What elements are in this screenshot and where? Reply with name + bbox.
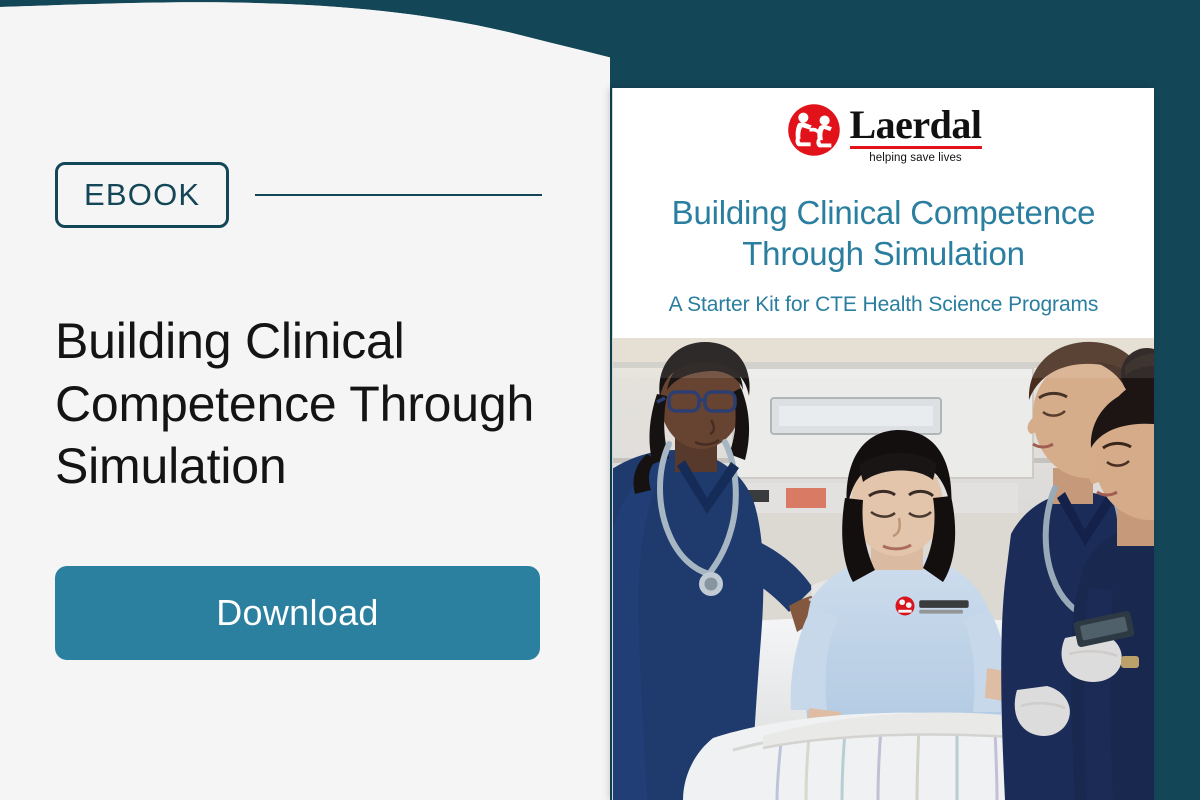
book-cover-header: Laerdal helping save lives Building Clin… — [613, 88, 1154, 338]
left-content-column: EBOOK Building Clinical Competence Throu… — [0, 0, 600, 800]
download-button[interactable]: Download — [55, 566, 540, 660]
ebook-cover-image[interactable]: Laerdal helping save lives Building Clin… — [612, 88, 1154, 800]
book-cover-photo — [613, 338, 1154, 800]
clinical-simulation-scene-illustration — [613, 338, 1154, 800]
eyebrow-row: EBOOK — [55, 162, 542, 228]
page-title: Building Clinical Competence Through Sim… — [55, 310, 560, 498]
book-cover-subtitle: A Starter Kit for CTE Health Science Pro… — [631, 293, 1136, 317]
eyebrow-divider-line — [255, 194, 542, 196]
book-cover-title: Building Clinical Competence Through Sim… — [631, 192, 1136, 275]
laerdal-wordmark-group: Laerdal helping save lives — [849, 102, 981, 164]
content-type-badge: EBOOK — [55, 162, 229, 228]
laerdal-wordmark: Laerdal — [849, 106, 981, 144]
laerdal-logo: Laerdal helping save lives — [785, 102, 981, 164]
laerdal-cpr-figures-circle-icon — [785, 102, 841, 158]
promo-banner: EBOOK Building Clinical Competence Throu… — [0, 0, 1200, 800]
laerdal-tagline: helping save lives — [849, 152, 981, 164]
